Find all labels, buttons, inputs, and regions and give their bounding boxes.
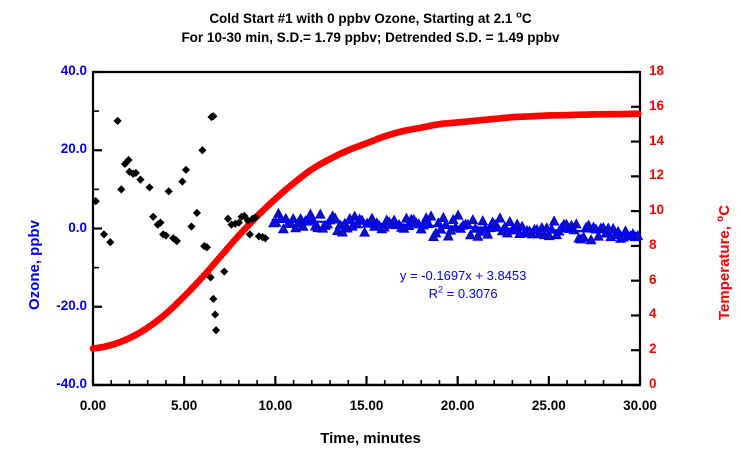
y-axis-right-tick-label: 12 xyxy=(649,167,664,182)
ozone-steady-point xyxy=(496,214,504,222)
ozone-early-point xyxy=(187,222,195,230)
x-axis-tick-label: 5.00 xyxy=(144,398,224,413)
ozone-early-point xyxy=(106,238,114,246)
y-axis-right-tick-label: 18 xyxy=(649,63,664,78)
ozone-steady-point xyxy=(469,216,477,224)
ozone-early-point xyxy=(211,310,219,318)
ozone-steady-point xyxy=(550,217,558,225)
ozone-steady-point xyxy=(316,210,324,218)
ozone-steady-point xyxy=(479,217,487,225)
x-axis-tick-label: 10.00 xyxy=(235,398,315,413)
x-axis-tick-label: 25.00 xyxy=(509,398,589,413)
x-axis-tick-label: 20.00 xyxy=(418,398,498,413)
ozone-steady-point xyxy=(360,228,368,236)
ozone-steady-point xyxy=(454,211,462,219)
regression-annotation: y = -0.1697x + 3.8453 xyxy=(353,268,573,283)
ozone-early-point xyxy=(178,177,186,185)
x-axis-tick-label: 15.00 xyxy=(327,398,407,413)
ozone-early-point xyxy=(136,175,144,183)
ozone-steady-point xyxy=(368,214,376,222)
x-axis-tick-label: 0.00 xyxy=(53,398,133,413)
ozone-steady-point xyxy=(506,217,514,225)
ozone-early-point xyxy=(100,230,108,238)
ozone-steady-point xyxy=(579,233,587,241)
x-axis-tick-label: 30.00 xyxy=(600,398,680,413)
ozone-early-point xyxy=(165,187,173,195)
y-axis-right-tick-label: 14 xyxy=(649,133,664,148)
regression-annotation-text: R xyxy=(429,286,438,301)
ozone-early-point xyxy=(114,117,122,125)
y-axis-left-tick-label: 0.0 xyxy=(17,220,87,235)
temperature-point xyxy=(635,110,642,117)
y-axis-right-tick-label: 4 xyxy=(649,306,657,321)
y-axis-right-tick-label: 2 xyxy=(649,341,657,356)
ozone-steady-point xyxy=(572,220,580,228)
ozone-early-point xyxy=(117,185,125,193)
y-axis-right-tick-label: 16 xyxy=(649,98,664,113)
y-axis-right-tick-label: 10 xyxy=(649,202,664,217)
ozone-early-point xyxy=(209,295,217,303)
chart-container: Cold Start #1 with 0 ppbv Ozone, Startin… xyxy=(0,0,741,462)
ozone-early-point xyxy=(193,209,201,217)
ozone-early-point xyxy=(182,166,190,174)
ozone-early-point xyxy=(145,183,153,191)
y-axis-right-tick-label: 8 xyxy=(649,237,657,252)
ozone-early-point xyxy=(212,326,220,334)
y-axis-left-tick-label: 40.0 xyxy=(17,63,87,78)
ozone-early-point xyxy=(220,267,228,275)
plot-canvas xyxy=(0,0,741,462)
y-axis-right-tick-label: 6 xyxy=(649,272,657,287)
y-axis-left-tick-label: -20.0 xyxy=(17,298,87,313)
y-axis-right-tick-label: 0 xyxy=(649,376,657,391)
regression-annotation: R2 = 0.3076 xyxy=(353,286,573,301)
regression-annotation-text: y = -0.1697x + 3.8453 xyxy=(400,268,526,283)
regression-annotation-text-post: = 0.3076 xyxy=(443,286,498,301)
ozone-early-point xyxy=(198,146,206,154)
y-axis-left-tick-label: 20.0 xyxy=(17,141,87,156)
y-axis-left-tick-label: -40.0 xyxy=(17,376,87,391)
ozone-steady-point xyxy=(427,212,435,220)
ozone-early-point xyxy=(149,213,157,221)
